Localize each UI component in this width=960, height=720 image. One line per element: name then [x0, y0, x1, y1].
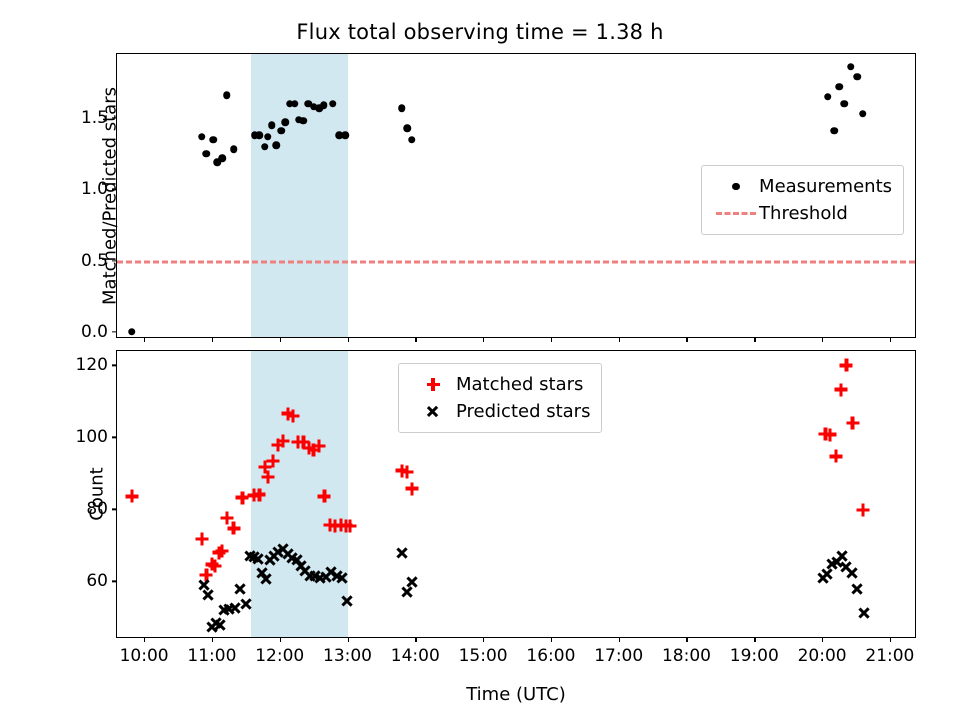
y-tick-mark [112, 331, 117, 332]
data-point [291, 100, 299, 108]
x-tick-label: 21:00 [865, 646, 914, 666]
x-tick-mark [415, 637, 416, 642]
data-point [342, 131, 350, 139]
data-point [320, 102, 328, 110]
data-point [262, 471, 275, 484]
y-tick-label: 100 [76, 427, 108, 447]
data-point [227, 522, 240, 535]
x-tick-mark [212, 337, 213, 342]
data-point [401, 466, 414, 479]
y-tick-mark [112, 509, 117, 510]
data-point [835, 383, 848, 396]
x-tick-mark [280, 337, 281, 342]
x-tick-label: 10:00 [120, 646, 169, 666]
y-tick-mark [112, 117, 117, 118]
data-point [829, 450, 842, 463]
data-point [835, 83, 843, 91]
data-point [128, 328, 136, 336]
x-tick-mark [348, 337, 349, 342]
data-point [851, 582, 864, 595]
y-tick-label: 1.5 [81, 108, 108, 128]
y-tick-mark [112, 365, 117, 366]
figure-canvas: Flux total observing time = 1.38 h Match… [0, 0, 960, 720]
x-tick-label: 17:00 [594, 646, 643, 666]
x-tick-label: 20:00 [798, 646, 847, 666]
y-tick-mark [112, 437, 117, 438]
y-tick-label: 80 [86, 499, 108, 519]
data-point [398, 104, 406, 112]
data-point [841, 100, 849, 108]
page-title: Flux total observing time = 1.38 h [0, 20, 960, 44]
y-tick-mark [112, 260, 117, 261]
legend-item-measurements: Measurements [713, 173, 892, 200]
data-point [859, 110, 867, 118]
legend-item-predicted-stars: Predicted stars [410, 398, 590, 425]
data-point [198, 133, 206, 141]
top-panel-axes: Matched/Predicted stars 0.00.51.01.5 Mea… [116, 53, 916, 338]
data-point [840, 359, 853, 372]
data-point [264, 133, 272, 141]
x-tick-mark [890, 337, 891, 342]
data-point [831, 127, 839, 135]
y-tick-label: 1.0 [81, 179, 108, 199]
legend-item-matched-stars: Matched stars [410, 371, 590, 398]
x-tick-mark [822, 337, 823, 342]
data-point [218, 154, 226, 162]
x-tick-mark [686, 337, 687, 342]
x-tick-mark [144, 337, 145, 342]
x-tick-mark [619, 637, 620, 642]
dashed-line-marker-icon [713, 200, 759, 227]
data-point [195, 532, 208, 545]
legend-label-predicted-stars: Predicted stars [456, 401, 590, 422]
x-tick-mark [619, 337, 620, 342]
x-tick-mark [483, 337, 484, 342]
x-tick-mark [348, 637, 349, 642]
x-tick-label: 11:00 [187, 646, 236, 666]
bottom-panel-axes: Count 6080100120 10:0011:0012:0013:0014:… [116, 350, 916, 638]
x-tick-mark [551, 337, 552, 342]
data-point [230, 146, 238, 154]
data-point [277, 435, 290, 448]
y-tick-mark [112, 581, 117, 582]
x-tick-label: 13:00 [323, 646, 372, 666]
data-point [216, 544, 229, 557]
x-tick-mark [822, 637, 823, 642]
data-point [210, 136, 218, 144]
x-tick-mark [686, 637, 687, 642]
cross-marker-icon [410, 398, 456, 425]
data-point [261, 143, 269, 151]
data-point [125, 490, 138, 503]
data-point [344, 519, 357, 532]
data-point [287, 409, 300, 422]
data-point [252, 553, 265, 566]
data-point [329, 100, 337, 108]
observing-window-shading [251, 54, 347, 337]
x-tick-label: 15:00 [459, 646, 508, 666]
x-tick-mark [551, 637, 552, 642]
plus-marker-icon [410, 371, 456, 398]
x-tick-mark [280, 637, 281, 642]
legend-item-threshold: Threshold [713, 200, 892, 227]
data-point [824, 93, 832, 101]
x-tick-mark [483, 637, 484, 642]
data-point [405, 576, 418, 589]
data-point [858, 606, 871, 619]
data-point [266, 454, 279, 467]
x-axis-label: Time (UTC) [116, 684, 916, 705]
data-point [239, 597, 252, 610]
data-point [336, 572, 349, 585]
data-point [300, 117, 308, 125]
data-point [253, 488, 266, 501]
legend-label-threshold: Threshold [759, 203, 848, 224]
data-point [202, 588, 215, 601]
data-point [313, 439, 326, 452]
legend-label-matched-stars: Matched stars [456, 374, 583, 395]
x-tick-mark [754, 337, 755, 342]
data-point [223, 92, 231, 100]
y-tick-label: 0.0 [81, 322, 108, 342]
data-point [408, 136, 416, 144]
x-tick-label: 12:00 [255, 646, 304, 666]
x-tick-mark [415, 337, 416, 342]
x-tick-label: 14:00 [391, 646, 440, 666]
legend-label-measurements: Measurements [759, 176, 892, 197]
data-point [256, 131, 264, 139]
data-point [318, 490, 331, 503]
y-tick-label: 0.5 [81, 251, 108, 271]
data-point [273, 141, 281, 149]
data-point [268, 122, 276, 130]
data-point [846, 417, 859, 430]
y-tick-label: 60 [86, 571, 108, 591]
data-point [405, 482, 418, 495]
data-point [847, 63, 855, 71]
y-tick-mark [112, 189, 117, 190]
bottom-panel-legend: Matched stars Predicted stars [398, 363, 602, 433]
data-point [824, 428, 837, 441]
data-point [854, 73, 862, 81]
data-point [340, 595, 353, 608]
x-tick-label: 18:00 [662, 646, 711, 666]
data-point [260, 572, 273, 585]
data-point [403, 124, 411, 132]
y-tick-label: 120 [76, 355, 108, 375]
data-point [395, 546, 408, 559]
data-point [856, 503, 869, 516]
data-point [214, 618, 227, 631]
x-tick-mark [144, 637, 145, 642]
x-tick-mark [212, 637, 213, 642]
data-point [203, 150, 211, 158]
x-tick-label: 19:00 [730, 646, 779, 666]
threshold-line [117, 261, 915, 264]
data-point [234, 583, 247, 596]
data-point [277, 127, 285, 135]
top-panel-legend: Measurements Threshold [701, 165, 904, 235]
dot-marker-icon [713, 173, 759, 200]
data-point [845, 567, 858, 580]
data-point [281, 119, 289, 127]
x-tick-mark [754, 637, 755, 642]
data-point [209, 559, 222, 572]
x-tick-label: 16:00 [526, 646, 575, 666]
x-tick-mark [890, 637, 891, 642]
